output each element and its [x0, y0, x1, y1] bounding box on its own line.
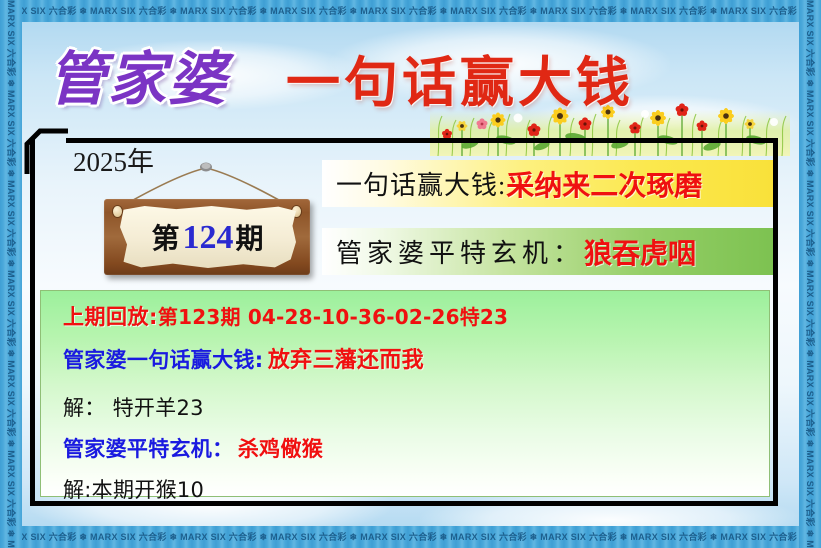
yijuhua-label: 管家婆一句话赢大钱:: [63, 348, 263, 372]
row-yijuhua: 管家婆一句话赢大钱: 放弃三藩还而我: [63, 350, 769, 372]
row-last-issue-replay: 上期回放:第123期 04-28-10-36-02-26特23: [63, 307, 769, 328]
border-pattern-text: MARX SIX 六合彩 ❄ MARX SIX 六合彩 ❄ MARX SIX 六…: [799, 0, 821, 22]
row-pingtexuanji: 管家婆平特玄机： 杀鸡儆猴: [63, 439, 769, 460]
issue-suffix: 期: [236, 222, 265, 255]
border-pattern-text: MARX SIX 六合彩 ❄ MARX SIX 六合彩 ❄ MARX SIX 六…: [0, 6, 821, 16]
pingtexuanji-label: 管家婆平特玄机：: [63, 437, 233, 461]
hanging-issue-sign: 第124期: [96, 160, 316, 285]
issue-prefix: 第: [151, 222, 180, 255]
border-strip-bottom: MARX SIX 六合彩 ❄ MARX SIX 六合彩 ❄ MARX SIX 六…: [0, 526, 821, 548]
border-strip-top: MARX SIX 六合彩 ❄ MARX SIX 六合彩 ❄ MARX SIX 六…: [0, 0, 821, 22]
border-pattern-text: MARX SIX 六合彩 ❄ MARX SIX 六合彩 ❄ MARX SIX 六…: [0, 532, 821, 542]
banner-label: 一句话赢大钱:: [336, 165, 506, 202]
row-jie-1: 解： 特开羊23: [63, 398, 769, 419]
jie-2-text: 解:本期开猴10: [63, 478, 204, 502]
brand-title: 管家婆: [48, 32, 228, 116]
issue-number: 124: [181, 219, 236, 256]
replay-label: 上期回放:: [63, 305, 158, 329]
jie-1-text: 解： 特开羊23: [63, 396, 204, 420]
pingtexuanji-value: 杀鸡儆猴: [238, 437, 323, 461]
banner-answer: 狼吞虎咽: [584, 232, 696, 272]
poster-canvas: MARX SIX 六合彩 ❄ MARX SIX 六合彩 ❄ MARX SIX 六…: [0, 0, 821, 548]
banner-answer: 采纳来二次琢磨: [506, 164, 702, 204]
border-strip-right: MARX SIX 六合彩 ❄ MARX SIX 六合彩 ❄ MARX SIX 六…: [799, 0, 821, 548]
banner-pingtexuanji: 管家婆平特玄机：狼吞虎咽: [322, 228, 773, 275]
replay-value: 第123期 04-28-10-36-02-26特23: [158, 305, 508, 329]
border-pattern-text: MARX SIX 六合彩 ❄ MARX SIX 六合彩 ❄ MARX SIX 六…: [0, 0, 22, 22]
slogan-title: 一句话赢大钱: [286, 38, 634, 117]
row-jie-2: 解:本期开猴10: [63, 480, 769, 501]
sign-paper: 第124期: [120, 206, 296, 268]
banner-label: 管家婆平特玄机：: [336, 233, 584, 270]
issue-text: 第124期: [151, 217, 264, 257]
banner-yijuhua: 一句话赢大钱:采纳来二次琢磨: [322, 160, 773, 207]
border-strip-left: MARX SIX 六合彩 ❄ MARX SIX 六合彩 ❄ MARX SIX 六…: [0, 0, 22, 548]
panel-top-border: [66, 138, 778, 143]
content-box: 上期回放:第123期 04-28-10-36-02-26特23 管家婆一句话赢大…: [40, 290, 770, 497]
yijuhua-value: 放弃三藩还而我: [268, 348, 424, 373]
